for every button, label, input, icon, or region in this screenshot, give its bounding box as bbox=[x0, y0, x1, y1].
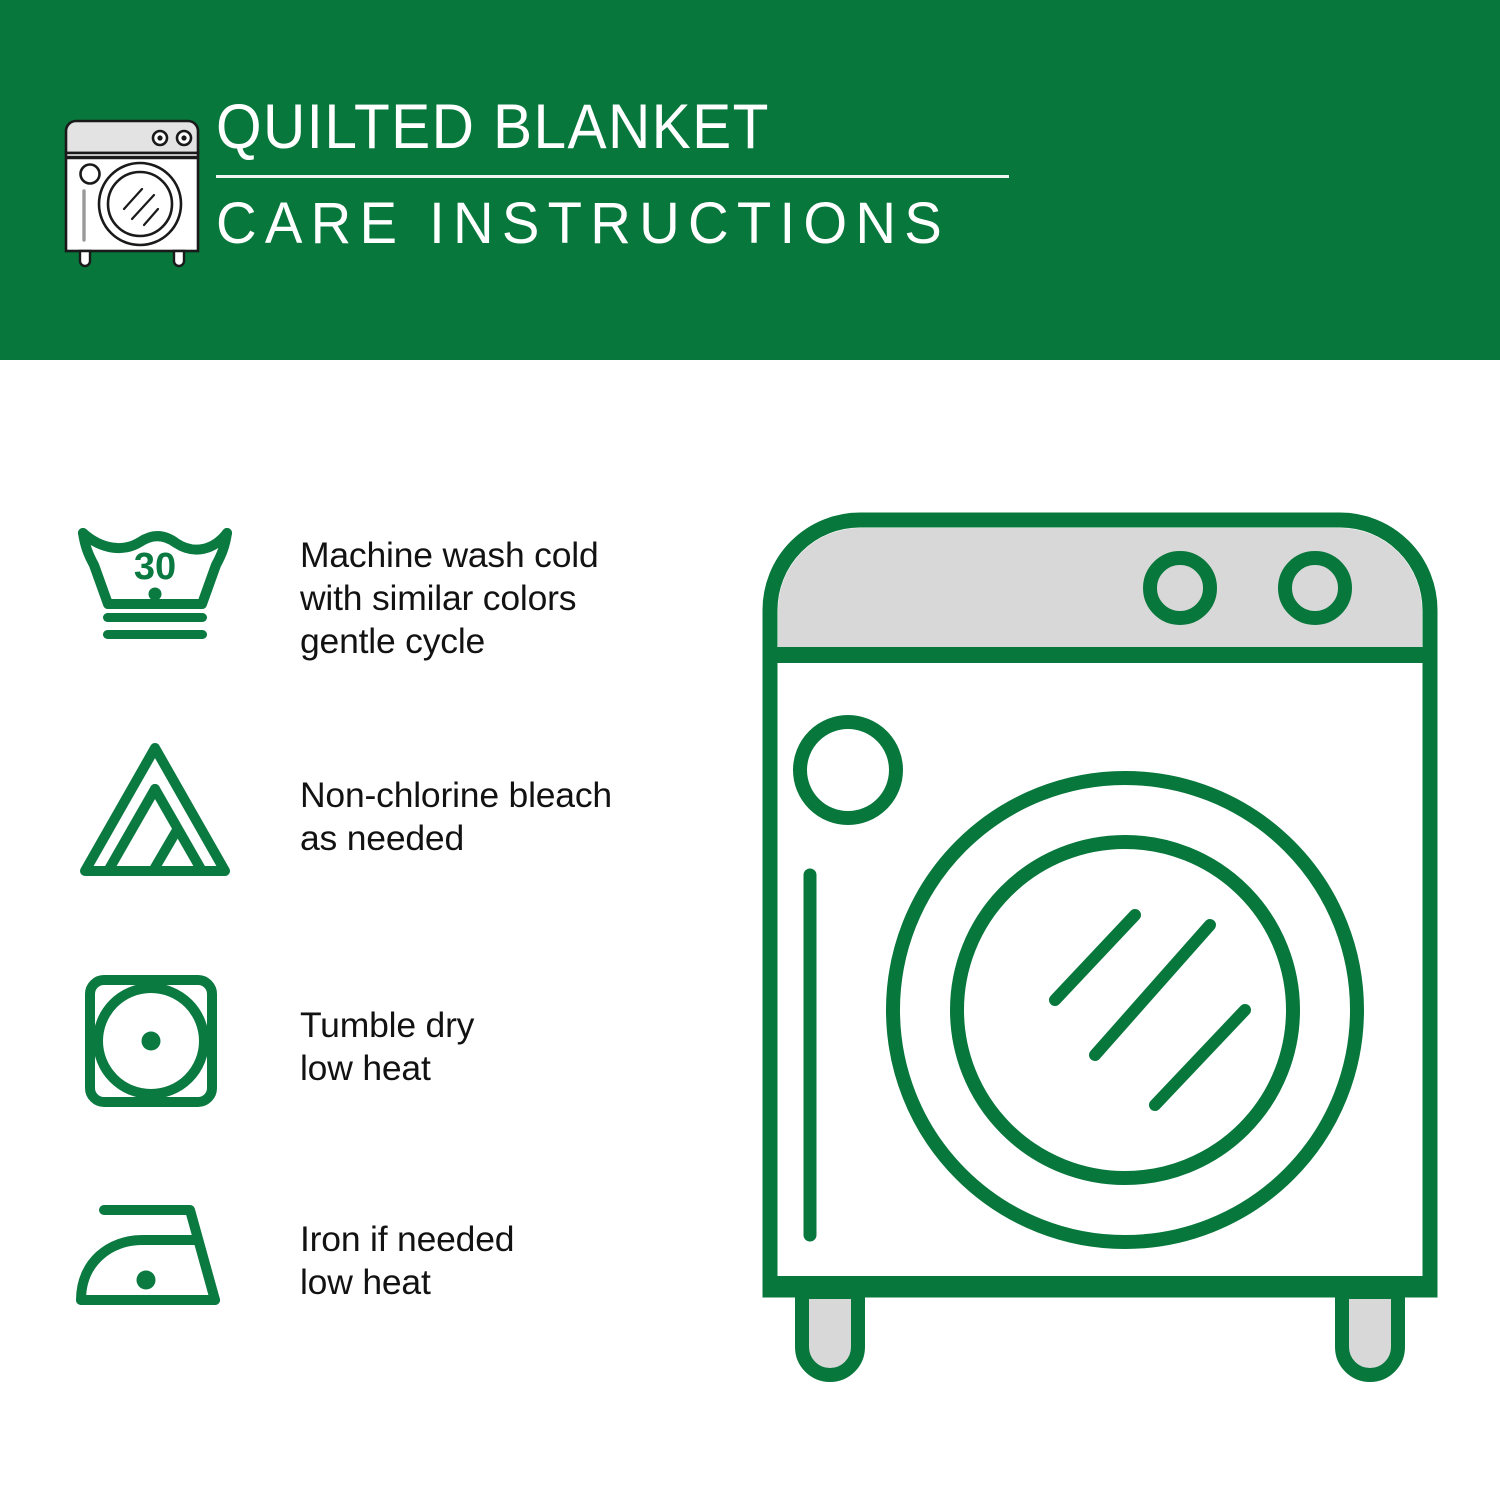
wash-tub-30-gentle-icon: 30 bbox=[72, 520, 238, 650]
header-text-block: QUILTED BLANKET CARE INSTRUCTIONS bbox=[216, 96, 1026, 253]
page-title: QUILTED BLANKET bbox=[216, 96, 969, 159]
care-label-tumble-dry: Tumble dry low heat bbox=[300, 1004, 700, 1090]
header-banner: QUILTED BLANKET CARE INSTRUCTIONS bbox=[0, 0, 1500, 360]
non-chlorine-bleach-triangle-icon bbox=[72, 734, 238, 884]
care-row-tumble-dry: Tumble dry low heat bbox=[0, 968, 700, 1138]
tumble-dry-low-heat-icon bbox=[72, 968, 238, 1113]
care-instructions-infographic: QUILTED BLANKET CARE INSTRUCTIONS 30 bbox=[0, 0, 1500, 1500]
page-subtitle: CARE INSTRUCTIONS bbox=[216, 195, 1002, 253]
washing-machine-logo-icon bbox=[62, 105, 202, 270]
care-label-machine-wash: Machine wash cold with similar colors ge… bbox=[300, 534, 700, 663]
care-row-iron: Iron if needed low heat bbox=[0, 1188, 700, 1348]
leg-right bbox=[1342, 1292, 1398, 1375]
control-knob-left bbox=[1150, 558, 1210, 618]
wash-temperature-value: 30 bbox=[134, 546, 176, 588]
iron-low-heat-icon bbox=[72, 1196, 238, 1316]
control-knob-right bbox=[1285, 558, 1345, 618]
heat-dot-icon bbox=[142, 1032, 161, 1051]
heat-dot-icon bbox=[149, 588, 162, 601]
heat-dot-icon bbox=[137, 1271, 156, 1290]
care-row-bleach: Non-chlorine bleach as needed bbox=[0, 730, 700, 900]
leg-left bbox=[802, 1292, 858, 1375]
care-label-iron: Iron if needed low heat bbox=[300, 1218, 700, 1304]
care-instruction-list: 30 Machine wash cold with similar colors… bbox=[0, 360, 700, 1500]
care-label-bleach: Non-chlorine bleach as needed bbox=[300, 774, 700, 860]
care-row-machine-wash: 30 Machine wash cold with similar colors… bbox=[0, 512, 700, 712]
title-divider bbox=[216, 175, 1009, 178]
detergent-port bbox=[800, 722, 896, 818]
front-load-washing-machine-illustration bbox=[740, 490, 1460, 1420]
